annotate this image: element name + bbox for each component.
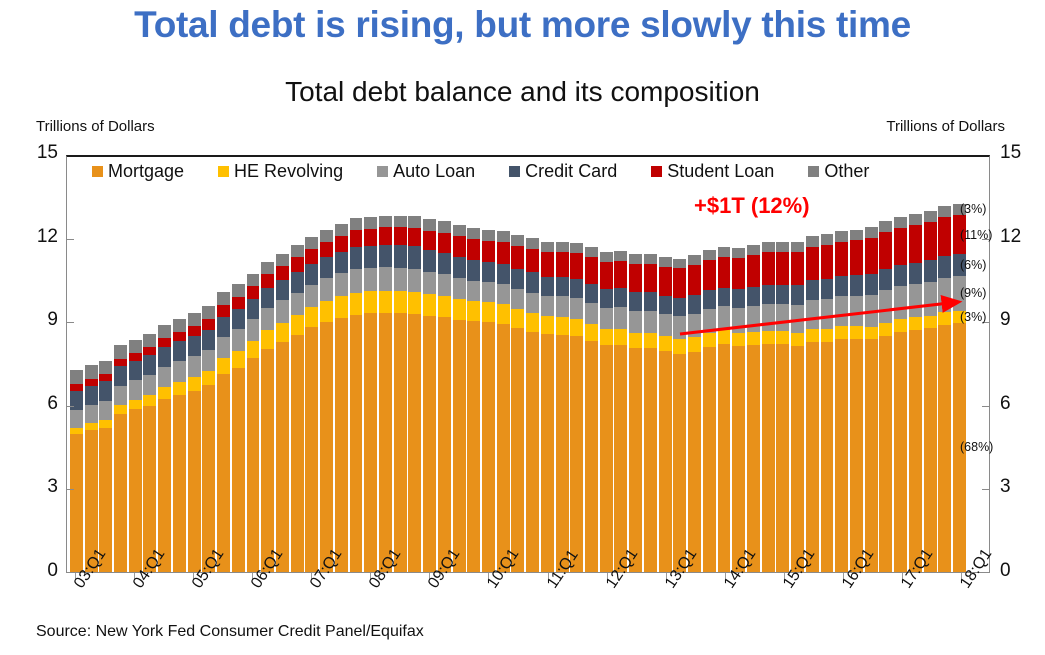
bar-segment xyxy=(423,316,436,572)
bar-column xyxy=(394,157,407,572)
bar-column xyxy=(143,157,156,572)
bar-segment xyxy=(570,279,583,298)
bar-segment xyxy=(173,332,186,342)
bar-column xyxy=(188,157,201,572)
bar-segment xyxy=(453,299,466,320)
chart-page: Total debt is rising, but more slowly th… xyxy=(0,0,1045,655)
y-tick-mark xyxy=(66,322,74,323)
bar-segment xyxy=(924,328,937,572)
bar-segment xyxy=(570,243,583,253)
bar-segment xyxy=(291,272,304,293)
bar-column xyxy=(924,157,937,572)
composition-percent-label: (9%) xyxy=(960,286,986,300)
bar-segment xyxy=(644,264,657,292)
bar-column xyxy=(614,157,627,572)
bar-segment xyxy=(129,380,142,400)
legend-item[interactable]: HE Revolving xyxy=(218,161,343,182)
bar-segment xyxy=(379,291,392,313)
bar-segment xyxy=(114,359,127,367)
bar-segment xyxy=(541,252,554,276)
bar-segment xyxy=(114,345,127,358)
bar-segment xyxy=(865,238,878,274)
bar-segment xyxy=(776,344,789,572)
bar-segment xyxy=(202,371,215,386)
bar-segment xyxy=(511,269,524,289)
bar-segment xyxy=(585,284,598,304)
bar-segment xyxy=(379,216,392,228)
bar-segment xyxy=(497,284,510,304)
y-tick-mark xyxy=(982,489,990,490)
bar-segment xyxy=(408,292,421,314)
bar-segment xyxy=(320,301,333,322)
bar-segment xyxy=(938,217,951,255)
bar-segment xyxy=(335,252,348,274)
bar-segment xyxy=(747,345,760,572)
bar-column xyxy=(232,157,245,572)
bar-segment xyxy=(335,273,348,296)
bar-segment xyxy=(762,242,775,252)
bar-segment xyxy=(938,325,951,572)
bar-segment xyxy=(629,292,642,311)
bar-segment xyxy=(850,230,863,241)
bar-column xyxy=(482,157,495,572)
bar-segment xyxy=(865,339,878,572)
y-tick-mark xyxy=(66,489,74,490)
bar-segment xyxy=(556,252,569,277)
composition-percent-label: (3%) xyxy=(960,202,986,216)
bar-segment xyxy=(570,319,583,336)
bar-segment xyxy=(879,336,892,572)
bar-segment xyxy=(511,235,524,246)
bar-segment xyxy=(821,342,834,572)
bar-segment xyxy=(894,217,907,228)
bar-column xyxy=(526,157,539,572)
bar-segment xyxy=(70,434,83,572)
bar-segment xyxy=(482,230,495,241)
bar-segment xyxy=(158,387,171,399)
bar-segment xyxy=(762,344,775,572)
bar-segment xyxy=(614,329,627,345)
legend-swatch-icon xyxy=(808,166,819,177)
bar-segment xyxy=(585,303,598,324)
bar-column xyxy=(129,157,142,572)
bar-segment xyxy=(556,277,569,296)
bar-column xyxy=(570,157,583,572)
y-tick-mark xyxy=(66,406,74,407)
legend-swatch-icon xyxy=(92,166,103,177)
legend-swatch-icon xyxy=(218,166,229,177)
bar-segment xyxy=(202,350,215,371)
bar-segment xyxy=(600,252,613,262)
bar-segment xyxy=(467,281,480,301)
y-tick-label-left: 0 xyxy=(18,560,58,582)
bar-column xyxy=(467,157,480,572)
bar-segment xyxy=(173,341,186,361)
bar-segment xyxy=(879,221,892,232)
bar-segment xyxy=(188,391,201,572)
legend-swatch-icon xyxy=(377,166,388,177)
bar-segment xyxy=(879,232,892,269)
bar-segment xyxy=(158,399,171,572)
bar-column xyxy=(202,157,215,572)
bar-segment xyxy=(85,423,98,430)
bar-segment xyxy=(423,250,436,272)
bar-column xyxy=(158,157,171,572)
growth-annotation: +$1T (12%) xyxy=(694,193,810,219)
bar-segment xyxy=(423,272,436,294)
bar-segment xyxy=(497,304,510,324)
bar-segment xyxy=(158,325,171,338)
y-tick-label-right: 0 xyxy=(1000,560,1040,582)
legend-item[interactable]: Credit Card xyxy=(509,161,617,182)
bar-segment xyxy=(276,342,289,572)
bar-column xyxy=(585,157,598,572)
bar-column xyxy=(335,157,348,572)
bar-segment xyxy=(114,386,127,406)
y-tick-label-right: 15 xyxy=(1000,142,1040,164)
y-tick-label-left: 9 xyxy=(18,309,58,331)
bar-column xyxy=(865,157,878,572)
bar-column xyxy=(541,157,554,572)
bar-column xyxy=(776,157,789,572)
bar-segment xyxy=(718,344,731,572)
bar-segment xyxy=(541,242,554,253)
bar-segment xyxy=(217,292,230,305)
bar-segment xyxy=(232,351,245,368)
bar-segment xyxy=(629,254,642,264)
bar-column xyxy=(879,157,892,572)
y-tick-label-left: 12 xyxy=(18,226,58,248)
bar-segment xyxy=(511,328,524,572)
bar-column xyxy=(762,157,775,572)
bar-segment xyxy=(408,216,421,228)
bar-segment xyxy=(673,259,686,269)
bar-column xyxy=(453,157,466,572)
bar-segment xyxy=(438,233,451,253)
bar-segment xyxy=(247,286,260,299)
bar-segment xyxy=(188,356,201,377)
bar-column xyxy=(320,157,333,572)
bar-segment xyxy=(526,272,539,293)
bar-column xyxy=(718,157,731,572)
bar-segment xyxy=(482,322,495,572)
bar-column xyxy=(291,157,304,572)
bar-segment xyxy=(673,354,686,572)
bar-segment xyxy=(217,317,230,337)
bar-column xyxy=(629,157,642,572)
bar-segment xyxy=(438,317,451,572)
bar-column xyxy=(173,157,186,572)
bar-segment xyxy=(438,274,451,295)
bar-column xyxy=(835,157,848,572)
page-title: Total debt is rising, but more slowly th… xyxy=(0,4,1045,46)
bar-segment xyxy=(438,296,451,318)
bar-segment xyxy=(70,410,83,428)
bar-segment xyxy=(114,366,127,386)
bar-column xyxy=(688,157,701,572)
bar-segment xyxy=(453,225,466,236)
bar-column xyxy=(791,157,804,572)
bar-segment xyxy=(924,260,937,282)
bar-segment xyxy=(821,234,834,245)
bar-segment xyxy=(644,333,657,348)
bar-segment xyxy=(835,242,848,277)
y-tick-label-right: 9 xyxy=(1000,309,1040,331)
bar-segment xyxy=(453,278,466,299)
chart-legend: MortgageHE RevolvingAuto LoanCredit Card… xyxy=(92,158,972,184)
bar-segment xyxy=(600,329,613,345)
bar-segment xyxy=(924,211,937,222)
bar-segment xyxy=(335,318,348,572)
bar-column xyxy=(511,157,524,572)
bar-column xyxy=(850,157,863,572)
bar-segment xyxy=(644,311,657,333)
bar-segment xyxy=(202,306,215,319)
bar-segment xyxy=(497,242,510,264)
bar-segment xyxy=(511,309,524,328)
bar-segment xyxy=(776,242,789,252)
bar-segment xyxy=(364,246,377,268)
bar-segment xyxy=(600,289,613,308)
bar-segment xyxy=(320,230,333,242)
bar-segment xyxy=(158,347,171,367)
bar-column xyxy=(379,157,392,572)
bar-segment xyxy=(276,323,289,342)
bar-segment xyxy=(247,341,260,359)
bar-segment xyxy=(379,267,392,290)
bar-segment xyxy=(659,257,672,267)
bar-segment xyxy=(276,254,289,266)
bar-column xyxy=(114,157,127,572)
bar-segment xyxy=(556,296,569,316)
bar-segment xyxy=(247,299,260,319)
bar-segment xyxy=(467,260,480,281)
bar-segment xyxy=(938,256,951,279)
bar-segment xyxy=(644,292,657,311)
bar-segment xyxy=(364,313,377,572)
bar-segment xyxy=(291,315,304,335)
bar-segment xyxy=(394,227,407,245)
bar-segment xyxy=(85,379,98,386)
bar-segment xyxy=(453,257,466,278)
bar-segment xyxy=(70,370,83,384)
legend-item[interactable]: Student Loan xyxy=(651,161,774,182)
legend-label: Mortgage xyxy=(108,161,184,182)
y-tick-label-right: 12 xyxy=(1000,226,1040,248)
bar-segment xyxy=(408,228,421,246)
bar-segment xyxy=(350,230,363,246)
y-tick-label-left: 15 xyxy=(18,142,58,164)
bar-segment xyxy=(188,326,201,336)
bar-column xyxy=(70,157,83,572)
bar-segment xyxy=(394,291,407,313)
bar-segment xyxy=(865,227,878,238)
bar-segment xyxy=(909,225,922,263)
bar-segment xyxy=(541,296,554,316)
bar-segment xyxy=(173,395,186,572)
bar-segment xyxy=(217,305,230,317)
bar-segment xyxy=(791,242,804,252)
bar-column xyxy=(673,157,686,572)
bar-segment xyxy=(614,345,627,572)
bar-segment xyxy=(511,289,524,309)
bar-segment xyxy=(482,302,495,322)
bar-segment xyxy=(467,301,480,322)
bar-segment xyxy=(143,375,156,395)
y-tick-label-right: 3 xyxy=(1000,476,1040,498)
legend-label: Auto Loan xyxy=(393,161,475,182)
bar-segment xyxy=(188,377,201,391)
bar-segment xyxy=(320,278,333,301)
bar-segment xyxy=(394,245,407,268)
bar-column xyxy=(703,157,716,572)
bar-segment xyxy=(247,319,260,341)
bar-segment xyxy=(247,274,260,287)
legend-item[interactable]: Auto Loan xyxy=(377,161,475,182)
bar-segment xyxy=(614,307,627,329)
bar-segment xyxy=(291,245,304,257)
bar-column xyxy=(408,157,421,572)
bar-segment xyxy=(143,347,156,355)
bar-segment xyxy=(261,330,274,348)
bar-segment xyxy=(806,247,819,281)
bar-column xyxy=(600,157,613,572)
plot-area xyxy=(66,155,990,573)
bar-segment xyxy=(703,250,716,260)
bar-segment xyxy=(129,340,142,353)
bar-segment xyxy=(438,221,451,232)
bar-segment xyxy=(526,249,539,273)
bar-segment xyxy=(276,300,289,322)
bar-segment xyxy=(732,346,745,572)
bar-segment xyxy=(85,365,98,378)
legend-label: Other xyxy=(824,161,869,182)
bar-column xyxy=(261,157,274,572)
bar-segment xyxy=(482,241,495,262)
bar-segment xyxy=(526,332,539,572)
bar-segment xyxy=(232,297,245,309)
bar-segment xyxy=(143,395,156,406)
bar-segment xyxy=(364,229,377,246)
bar-segment xyxy=(70,391,83,410)
bar-segment xyxy=(276,266,289,280)
bar-segment xyxy=(158,367,171,387)
bar-segment xyxy=(129,400,142,410)
bar-segment xyxy=(570,298,583,319)
bar-segment xyxy=(541,277,554,297)
bar-segment xyxy=(850,240,863,275)
bar-segment xyxy=(585,257,598,283)
bar-segment xyxy=(217,358,230,374)
bar-segment xyxy=(305,249,318,264)
bar-segment xyxy=(247,358,260,572)
bar-segment xyxy=(129,353,142,360)
bar-column xyxy=(806,157,819,572)
bar-column xyxy=(821,157,834,572)
legend-label: Student Loan xyxy=(667,161,774,182)
bar-segment xyxy=(261,308,274,330)
bar-segment xyxy=(614,261,627,289)
bar-segment xyxy=(894,228,907,265)
bar-segment xyxy=(688,255,701,265)
bar-series-container xyxy=(67,157,989,572)
bar-segment xyxy=(188,336,201,356)
bar-segment xyxy=(70,384,83,391)
composition-percent-label: (11%) xyxy=(960,228,992,242)
y-tick-mark xyxy=(66,239,74,240)
bar-segment xyxy=(467,228,480,239)
bar-segment xyxy=(453,236,466,256)
bar-segment xyxy=(129,409,142,572)
bar-segment xyxy=(629,264,642,292)
bar-column xyxy=(305,157,318,572)
bar-column xyxy=(497,157,510,572)
bar-segment xyxy=(556,242,569,253)
bar-column xyxy=(217,157,230,572)
bar-column xyxy=(423,157,436,572)
bar-segment xyxy=(835,339,848,572)
bar-segment xyxy=(629,348,642,572)
bar-segment xyxy=(688,352,701,572)
bar-segment xyxy=(217,374,230,572)
bar-segment xyxy=(556,317,569,335)
bar-segment xyxy=(305,264,318,285)
bar-segment xyxy=(835,231,848,242)
bar-segment xyxy=(423,294,436,316)
bar-segment xyxy=(570,336,583,572)
bar-segment xyxy=(114,414,127,572)
bar-segment xyxy=(188,313,201,326)
bar-segment xyxy=(497,264,510,284)
bar-segment xyxy=(629,311,642,333)
legend-item[interactable]: Other xyxy=(808,161,869,182)
bar-segment xyxy=(99,374,112,381)
bar-segment xyxy=(143,355,156,375)
bar-segment xyxy=(85,386,98,405)
bar-segment xyxy=(938,206,951,217)
bar-segment xyxy=(511,246,524,269)
y-axis-unit-left: Trillions of Dollars xyxy=(36,118,155,135)
source-note: Source: New York Fed Consumer Credit Pan… xyxy=(36,623,424,641)
bar-segment xyxy=(408,269,421,292)
bar-segment xyxy=(453,320,466,572)
legend-swatch-icon xyxy=(509,166,520,177)
bar-segment xyxy=(305,285,318,308)
bar-segment xyxy=(408,246,421,269)
bar-segment xyxy=(600,345,613,572)
composition-percent-label: (6%) xyxy=(960,258,986,272)
bar-segment xyxy=(202,330,215,350)
bar-column xyxy=(659,157,672,572)
bar-segment xyxy=(585,247,598,258)
bar-segment xyxy=(173,382,186,395)
bar-segment xyxy=(99,361,112,374)
bar-segment xyxy=(747,245,760,255)
bar-segment xyxy=(497,231,510,242)
bar-segment xyxy=(114,405,127,414)
bar-segment xyxy=(482,282,495,302)
bar-segment xyxy=(202,319,215,330)
bar-column xyxy=(438,157,451,572)
bar-segment xyxy=(423,219,436,231)
bar-segment xyxy=(158,338,171,347)
bar-segment xyxy=(614,251,627,261)
legend-item[interactable]: Mortgage xyxy=(92,161,184,182)
bar-segment xyxy=(556,335,569,572)
bar-segment xyxy=(909,330,922,572)
bar-segment xyxy=(276,280,289,300)
y-tick-label-left: 3 xyxy=(18,476,58,498)
